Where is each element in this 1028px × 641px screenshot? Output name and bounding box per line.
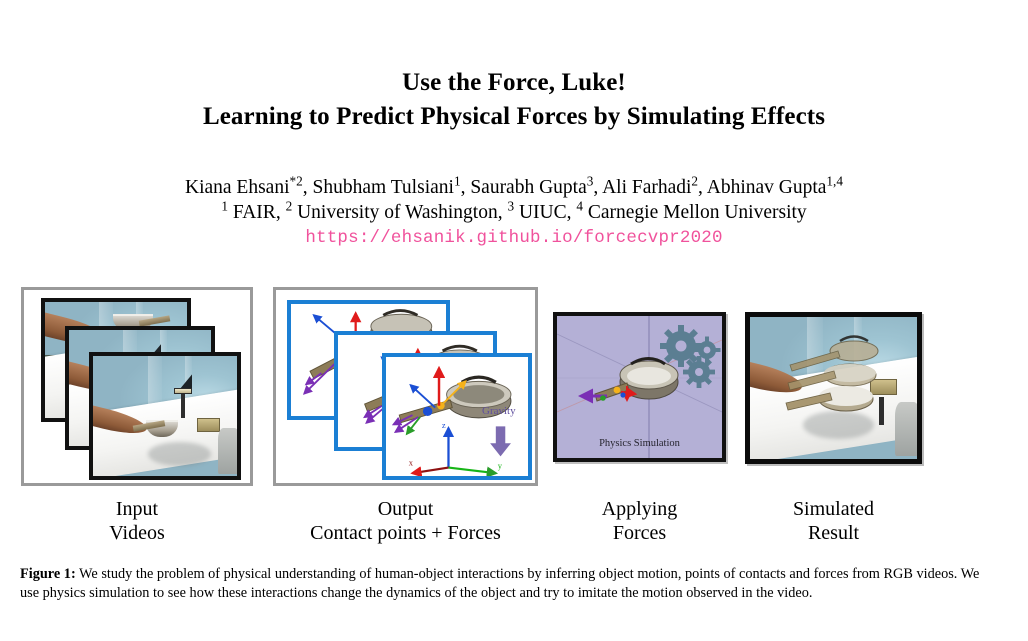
caption-line: Videos: [21, 521, 253, 545]
caption-line: Applying: [548, 497, 731, 521]
video-frame: [89, 352, 241, 480]
affiliation-name: FAIR: [233, 202, 276, 223]
panel-captions: Input Videos Output Contact points + For…: [0, 497, 1028, 549]
panel-output-forces: z x y Gravity: [273, 287, 538, 486]
project-url-link[interactable]: https://ehsanik.github.io/forcecvpr2020: [0, 226, 1028, 250]
figure-caption-text: We study the problem of physical underst…: [20, 566, 979, 601]
caption-applying-forces: Applying Forces: [548, 497, 731, 545]
author-entry: Saurabh Gupta3: [470, 177, 593, 198]
svg-text:x: x: [409, 458, 414, 468]
figure-caption-label: Figure 1:: [20, 566, 76, 582]
caption-input-videos: Input Videos: [21, 497, 253, 545]
svg-text:y: y: [498, 461, 503, 471]
paper-page: Use the Force, Luke! Learning to Predict…: [0, 0, 1028, 641]
caption-output-forces: Output Contact points + Forces: [273, 497, 538, 545]
output-frame: z x y Gravity: [382, 353, 532, 480]
author-marks: *2: [290, 174, 303, 189]
panel-physics-simulation: Physics Simulation: [553, 312, 726, 462]
affiliation-list: 1 FAIR, 2 University of Washington, 3 UI…: [0, 200, 1028, 225]
kitchen-scene: [93, 356, 237, 476]
figure-caption: Figure 1: We study the problem of physic…: [20, 565, 988, 604]
caption-line: Input: [21, 497, 253, 521]
caption-line: Contact points + Forces: [273, 521, 538, 545]
author-marks: 1: [454, 174, 461, 189]
author-entry: Kiana Ehsani*2: [185, 177, 303, 198]
author-entry: Ali Farhadi2: [602, 177, 698, 198]
affiliation-name: Carnegie Mellon University: [588, 202, 807, 223]
kitchen-scene: [750, 317, 917, 459]
caption-simulated-result: Simulated Result: [740, 497, 927, 545]
author-entry: Shubham Tulsiani1: [313, 177, 461, 198]
caption-line: Forces: [548, 521, 731, 545]
caption-line: Output: [273, 497, 538, 521]
world-axes: z x y: [409, 420, 503, 473]
title-line-1: Use the Force, Luke!: [0, 66, 1028, 100]
caption-line: Result: [740, 521, 927, 545]
author-list: Kiana Ehsani*2, Shubham Tulsiani1, Saura…: [0, 175, 1028, 200]
affiliation-name: UIUC: [519, 202, 567, 223]
affiliation-index: 4: [576, 199, 583, 214]
simulation-scene: [557, 316, 722, 458]
caption-line: Simulated: [740, 497, 927, 521]
page-title: Use the Force, Luke! Learning to Predict…: [0, 66, 1028, 134]
panel-simulated-result: [745, 312, 922, 464]
svg-text:z: z: [442, 420, 446, 430]
author-marks: 1,4: [826, 174, 843, 189]
title-line-2: Learning to Predict Physical Forces by S…: [0, 100, 1028, 134]
affiliation-index: 1: [221, 199, 228, 214]
gravity-label: Gravity: [482, 405, 516, 417]
figure-1: z x y Gravity: [0, 282, 1028, 502]
author-block: Kiana Ehsani*2, Shubham Tulsiani1, Saura…: [0, 175, 1028, 250]
gravity-arrow: [490, 426, 511, 456]
physics-simulation-label: Physics Simulation: [557, 438, 722, 449]
pan-motion-overlay: [750, 317, 917, 459]
affiliation-name: University of Washington: [297, 202, 498, 223]
author-entry: Abhinav Gupta1,4: [707, 177, 843, 198]
panel-input-videos: [21, 287, 253, 486]
